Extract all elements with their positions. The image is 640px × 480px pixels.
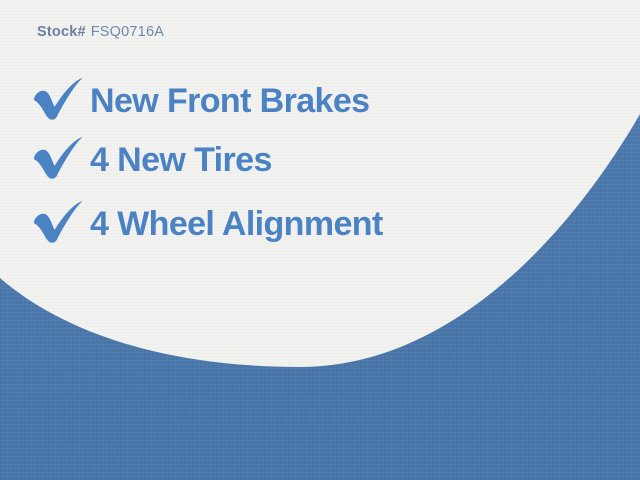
check-icon bbox=[30, 135, 84, 181]
slide-content: Stock#FSQ0716A New Front Brakes 4 New Ti… bbox=[0, 0, 640, 480]
check-icon bbox=[30, 199, 84, 245]
feature-list: New Front Brakes 4 New Tires 4 Wheel Ali… bbox=[30, 72, 610, 253]
feature-item: 4 New Tires bbox=[30, 131, 610, 189]
stock-number-label: Stock# bbox=[37, 24, 86, 40]
feature-label: New Front Brakes bbox=[90, 84, 369, 118]
feature-item: New Front Brakes bbox=[30, 72, 610, 130]
feature-label: 4 Wheel Alignment bbox=[90, 207, 383, 241]
check-icon bbox=[30, 76, 84, 122]
feature-slide: Stock#FSQ0716A New Front Brakes 4 New Ti… bbox=[0, 0, 640, 480]
feature-label: 4 New Tires bbox=[90, 143, 272, 177]
stock-number-value: FSQ0716A bbox=[91, 24, 164, 40]
stock-number: Stock#FSQ0716A bbox=[37, 24, 164, 40]
feature-item: 4 Wheel Alignment bbox=[30, 195, 610, 253]
